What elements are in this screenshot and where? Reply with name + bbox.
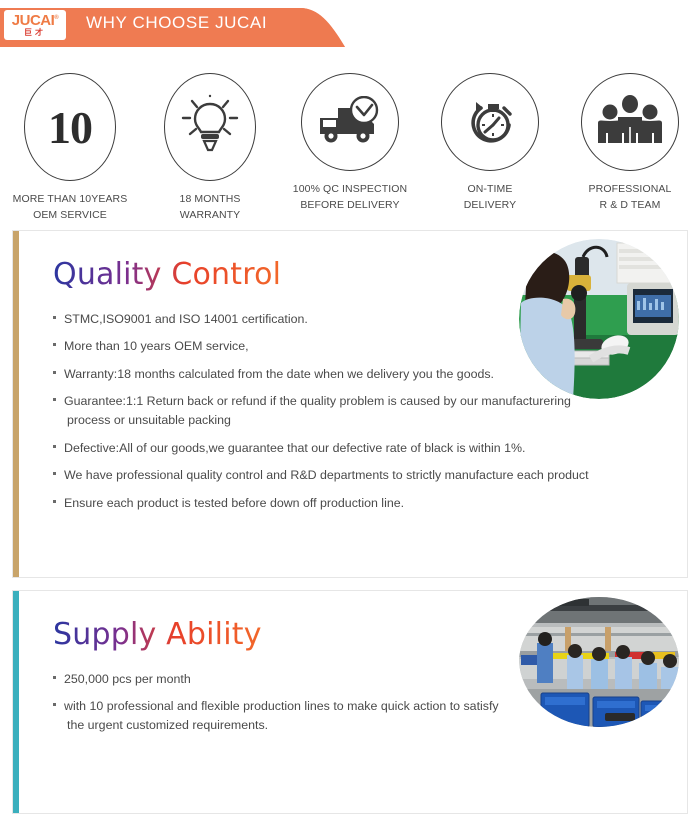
card-quality-control: Quality Control STMC,ISO9001 and ISO 140…	[12, 230, 688, 578]
delivery-truck-icon	[316, 96, 384, 148]
feature-label: PROFESSIONAL R & D TEAM	[589, 181, 672, 214]
feature-label-line2: R & D TEAM	[600, 199, 661, 211]
list-item: Ensure each product is tested before dow…	[53, 494, 669, 513]
feature-label: ON-TIME DELIVERY	[464, 181, 517, 214]
feature-label: 100% QC INSPECTION BEFORE DELIVERY	[293, 181, 407, 214]
feature-item-oem-service: 10 MORE THAN 10YEARS OEM SERVICE	[0, 73, 140, 224]
list-item: We have professional quality control and…	[53, 466, 669, 485]
feature-item-rd-team: PROFESSIONAL R & D TEAM	[560, 73, 700, 224]
lightbulb-icon-ring	[164, 73, 256, 181]
list-item-continuation: process or unsuitable packing	[64, 411, 669, 430]
feature-label-line1: MORE THAN 10YEARS	[13, 193, 128, 205]
stopwatch-icon-ring	[441, 73, 539, 171]
supply-ability-bullet-list: 250,000 pcs per month with 10 profession…	[39, 670, 669, 735]
feature-label-line1: 100% QC INSPECTION	[293, 183, 407, 195]
list-item: with 10 professional and flexible produc…	[53, 697, 669, 734]
list-item-continuation: the urgent customized requirements.	[64, 716, 669, 735]
team-people-icon-ring	[581, 73, 679, 171]
list-item: Warranty:18 months calculated from the d…	[53, 365, 669, 384]
feature-strip: 10 MORE THAN 10YEARS OEM SERVICE	[0, 55, 700, 230]
feature-item-qc-inspection: 100% QC INSPECTION BEFORE DELIVERY	[280, 73, 420, 224]
list-item: More than 10 years OEM service,	[53, 337, 669, 356]
feature-label: 18 MONTHS WARRANTY	[180, 191, 241, 224]
feature-label-line2: WARRANTY	[180, 209, 241, 221]
feature-label-line1: ON-TIME	[467, 183, 512, 195]
feature-item-warranty: 18 MONTHS WARRANTY	[140, 73, 280, 224]
feature-label: MORE THAN 10YEARS OEM SERVICE	[13, 191, 128, 224]
lightbulb-icon	[179, 94, 241, 160]
quality-control-bullet-list: STMC,ISO9001 and ISO 14001 certification…	[39, 310, 669, 513]
list-item: 250,000 pcs per month	[53, 670, 669, 689]
logo-wordmark: JUCAI®	[12, 13, 58, 28]
feature-label-line2: OEM SERVICE	[33, 209, 107, 221]
header-banner: JUCAI® 巨才 WHY CHOOSE JUCAI	[0, 0, 700, 55]
jucai-logo: JUCAI® 巨才	[4, 10, 66, 40]
team-people-icon	[595, 95, 665, 149]
logo-registered-icon: ®	[54, 15, 58, 21]
card-title: Supply Ability	[53, 617, 262, 652]
card-supply-ability: Supply Ability 250,000 pcs per month wit…	[12, 590, 688, 814]
feature-label-line1: 18 MONTHS	[180, 193, 241, 205]
list-item: STMC,ISO9001 and ISO 14001 certification…	[53, 310, 669, 329]
feature-label-line2: DELIVERY	[464, 199, 517, 211]
page-title: WHY CHOOSE JUCAI	[86, 13, 267, 33]
list-item: Defective:All of our goods,we guarantee …	[53, 439, 669, 458]
number-ten-icon: 10	[24, 73, 116, 181]
ten-badge-text: 10	[48, 101, 92, 154]
feature-item-on-time-delivery: ON-TIME DELIVERY	[420, 73, 560, 224]
card-title: Quality Control	[53, 257, 281, 292]
logo-text: JUCAI	[12, 12, 55, 29]
stopwatch-icon	[459, 92, 521, 152]
delivery-truck-icon-ring	[301, 73, 399, 171]
feature-label-line1: PROFESSIONAL	[589, 183, 672, 195]
feature-label-line2: BEFORE DELIVERY	[300, 199, 399, 211]
list-item: Guarantee:1:1 Return back or refund if t…	[53, 392, 669, 429]
logo-chinese-text: 巨才	[24, 29, 46, 37]
